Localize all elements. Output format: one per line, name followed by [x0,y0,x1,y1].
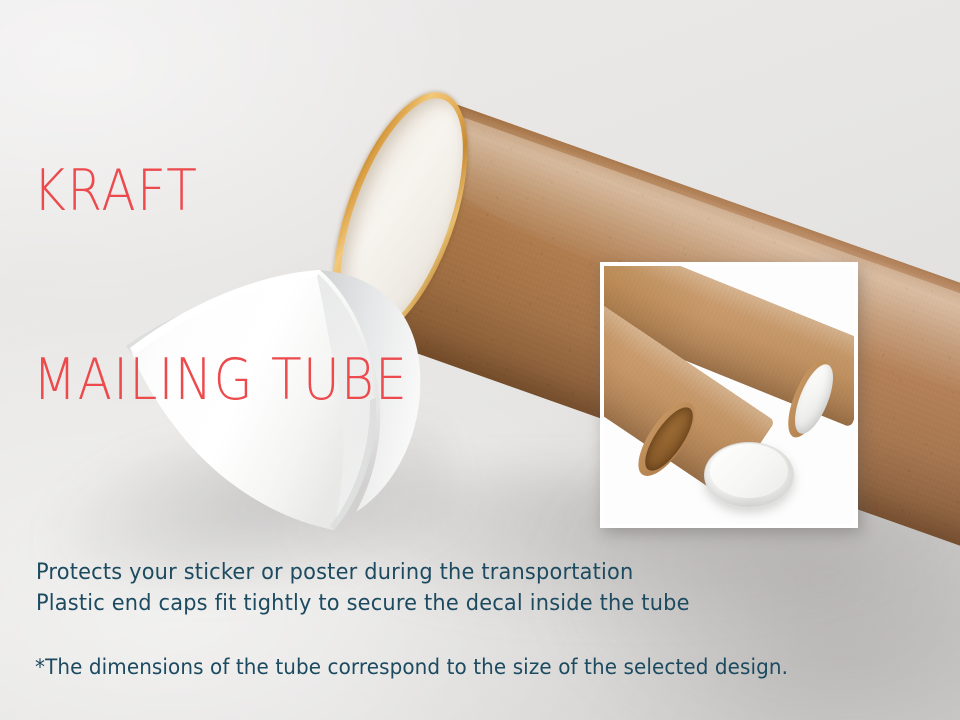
feature-line-1: Protects your sticker or poster during t… [36,557,690,588]
kraft-mailing-tube-poster: KRAFT MAILING TUBE Protects your sticker… [0,0,960,720]
footnote: *The dimensions of the tube correspond t… [35,655,788,679]
feature-list: Protects your sticker or poster during t… [36,557,690,619]
inset-photo-canvas [604,266,854,524]
product-detail-inset [600,262,858,528]
page-title: KRAFT MAILING TUBE [33,34,408,538]
inset-loose-cap-top [710,444,788,498]
title-line-2: MAILING TUBE [33,349,408,412]
title-line-1: KRAFT [33,160,408,223]
feature-line-2: Plastic end caps fit tightly to secure t… [36,588,690,619]
